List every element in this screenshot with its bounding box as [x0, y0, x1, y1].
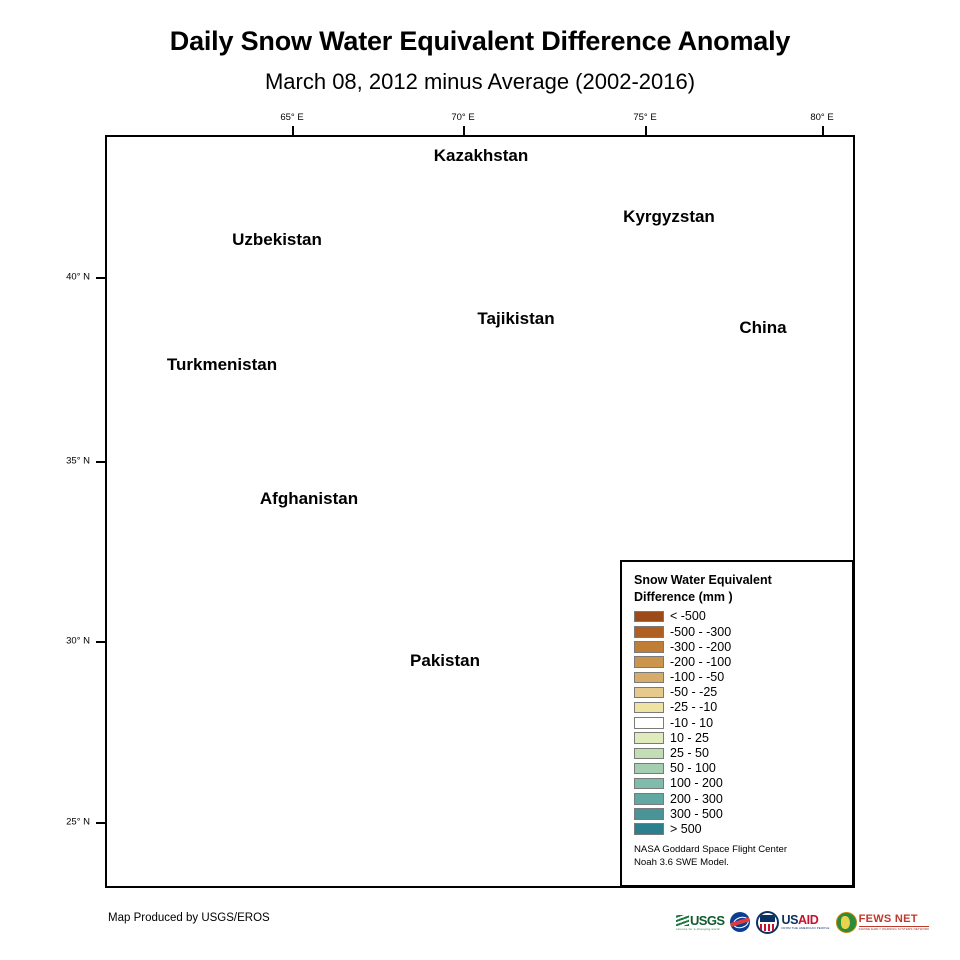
lon-tick-label-2: 75° E: [633, 112, 656, 123]
country-label-china: China: [739, 318, 786, 338]
fews-net-logo-tagline: FAMINE EARLY WARNING SYSTEMS NETWORK: [859, 928, 930, 931]
legend-row: -10 - 10: [634, 715, 842, 730]
lon-tick-0: [292, 126, 294, 135]
legend-swatch-5: [634, 687, 664, 699]
lon-tick-3: [822, 126, 824, 135]
legend-label-0: < -500: [670, 610, 706, 623]
usaid-seal-icon: [756, 911, 779, 934]
legend-swatch-7: [634, 717, 664, 729]
producer-credit: Map Produced by USGS/EROS: [108, 912, 270, 924]
legend-row: 25 - 50: [634, 746, 842, 761]
nasa-logo: [730, 910, 750, 934]
legend-swatch-14: [634, 823, 664, 835]
usaid-logo-text-aid: AID: [798, 913, 818, 927]
legend-swatch-1: [634, 626, 664, 638]
legend-row: < -500: [634, 609, 842, 624]
legend-row: 200 - 300: [634, 791, 842, 806]
legend-swatch-6: [634, 702, 664, 714]
legend-label-3: -200 - -100: [670, 656, 731, 669]
legend-row: 10 - 25: [634, 731, 842, 746]
legend-title: Snow Water Equivalent Difference (mm ): [634, 572, 842, 605]
legend-label-6: -25 - -10: [670, 701, 717, 714]
country-label-afghanistan: Afghanistan: [260, 489, 358, 509]
legend-row: -25 - -10: [634, 700, 842, 715]
legend-label-9: 25 - 50: [670, 747, 709, 760]
agency-logo-strip: USGS science for a changing world USAID …: [676, 909, 929, 935]
country-label-kyrgyzstan: Kyrgyzstan: [623, 207, 715, 227]
lat-tick-2: [96, 641, 105, 643]
nasa-meatball-icon: [730, 912, 750, 932]
legend-swatch-9: [634, 748, 664, 760]
lat-tick-3: [96, 822, 105, 824]
lon-tick-label-0: 65° E: [280, 112, 303, 123]
legend-row: 50 - 100: [634, 761, 842, 776]
legend-swatch-4: [634, 672, 664, 684]
legend-row: -200 - -100: [634, 655, 842, 670]
page-subtitle: March 08, 2012 minus Average (2002-2016): [0, 69, 960, 95]
legend-label-10: 50 - 100: [670, 762, 716, 775]
legend-swatch-13: [634, 808, 664, 820]
legend-swatch-12: [634, 793, 664, 805]
fews-globe-icon: [836, 912, 857, 933]
legend-title-line1: Snow Water Equivalent: [634, 572, 842, 589]
legend-swatch-8: [634, 732, 664, 744]
legend-swatch-10: [634, 763, 664, 775]
legend-row: 100 - 200: [634, 776, 842, 791]
legend-panel: Snow Water Equivalent Difference (mm ) <…: [620, 560, 854, 887]
legend-title-line2: Difference (mm ): [634, 589, 842, 606]
legend-label-4: -100 - -50: [670, 671, 724, 684]
legend-row: -50 - -25: [634, 685, 842, 700]
lat-tick-label-0: 40° N: [46, 272, 90, 283]
country-label-tajikistan: Tajikistan: [477, 309, 554, 329]
legend-label-2: -300 - -200: [670, 641, 731, 654]
fews-net-logo: FEWS NET FAMINE EARLY WARNING SYSTEMS NE…: [836, 910, 930, 934]
legend-label-12: 200 - 300: [670, 793, 723, 806]
page-title: Daily Snow Water Equivalent Difference A…: [0, 26, 960, 57]
legend-swatch-11: [634, 778, 664, 790]
usaid-logo-tagline: FROM THE AMERICAN PEOPLE: [781, 927, 829, 930]
country-label-kazakhstan: Kazakhstan: [434, 146, 528, 166]
lon-tick-label-3: 80° E: [810, 112, 833, 123]
legend-class-list: < -500-500 - -300-300 - -200-200 - -100-…: [634, 609, 842, 837]
legend-label-14: > 500: [670, 823, 702, 836]
legend-row: -300 - -200: [634, 639, 842, 654]
legend-label-1: -500 - -300: [670, 626, 731, 639]
legend-label-8: 10 - 25: [670, 732, 709, 745]
legend-row: -100 - -50: [634, 670, 842, 685]
legend-source: NASA Goddard Space Flight Center Noah 3.…: [634, 844, 842, 870]
legend-row: > 500: [634, 822, 842, 837]
lat-tick-1: [96, 461, 105, 463]
country-label-uzbekistan: Uzbekistan: [232, 230, 322, 250]
lon-tick-2: [645, 126, 647, 135]
usaid-logo-text-us: US: [781, 913, 798, 927]
legend-source-line1: NASA Goddard Space Flight Center: [634, 844, 842, 857]
legend-row: 300 - 500: [634, 806, 842, 821]
lon-tick-1: [463, 126, 465, 135]
lat-tick-label-2: 30° N: [46, 636, 90, 647]
lon-tick-label-1: 70° E: [451, 112, 474, 123]
country-label-pakistan: Pakistan: [410, 651, 480, 671]
legend-label-11: 100 - 200: [670, 777, 723, 790]
legend-row: -500 - -300: [634, 624, 842, 639]
legend-swatch-0: [634, 611, 664, 623]
country-label-turkmenistan: Turkmenistan: [167, 355, 277, 375]
legend-swatch-3: [634, 656, 664, 668]
lat-tick-label-3: 25° N: [46, 817, 90, 828]
usgs-logo-tagline: science for a changing world: [676, 928, 720, 931]
lat-tick-label-1: 35° N: [46, 456, 90, 467]
legend-label-13: 300 - 500: [670, 808, 723, 821]
usgs-logo-text: USGS: [690, 914, 724, 927]
legend-label-7: -10 - 10: [670, 717, 713, 730]
usgs-logo: USGS science for a changing world: [676, 910, 724, 934]
usgs-mark-icon: [676, 915, 689, 926]
usaid-logo: USAID FROM THE AMERICAN PEOPLE: [756, 910, 829, 934]
lat-tick-0: [96, 277, 105, 279]
legend-source-line2: Noah 3.6 SWE Model.: [634, 857, 842, 870]
legend-label-5: -50 - -25: [670, 686, 717, 699]
map-page: Daily Snow Water Equivalent Difference A…: [0, 0, 960, 960]
legend-swatch-2: [634, 641, 664, 653]
fews-net-logo-text: FEWS NET: [859, 914, 930, 927]
